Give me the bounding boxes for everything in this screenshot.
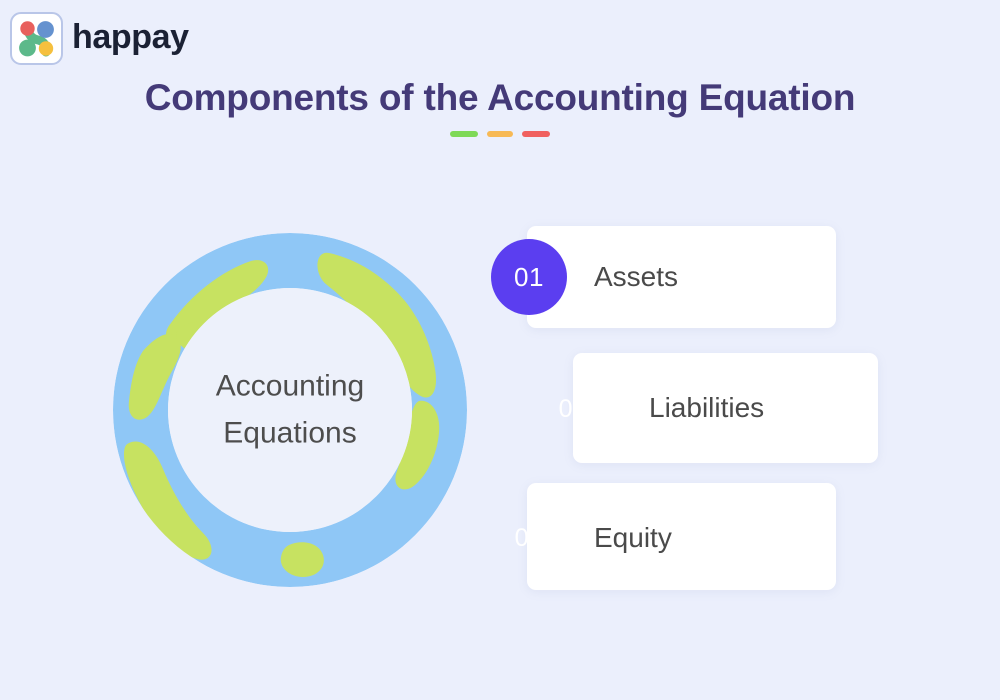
components-list: 01 Assets 02 Liabilities 03 Equity (0, 0, 1000, 700)
component-card[interactable] (527, 483, 836, 590)
component-card[interactable] (527, 226, 836, 328)
component-number-badge: 03 (491, 500, 567, 576)
component-label: Assets (594, 261, 678, 293)
component-number-badge: 01 (491, 239, 567, 315)
component-label: Liabilities (649, 392, 764, 424)
component-label: Equity (594, 522, 672, 554)
component-number-badge: 02 (535, 371, 611, 447)
